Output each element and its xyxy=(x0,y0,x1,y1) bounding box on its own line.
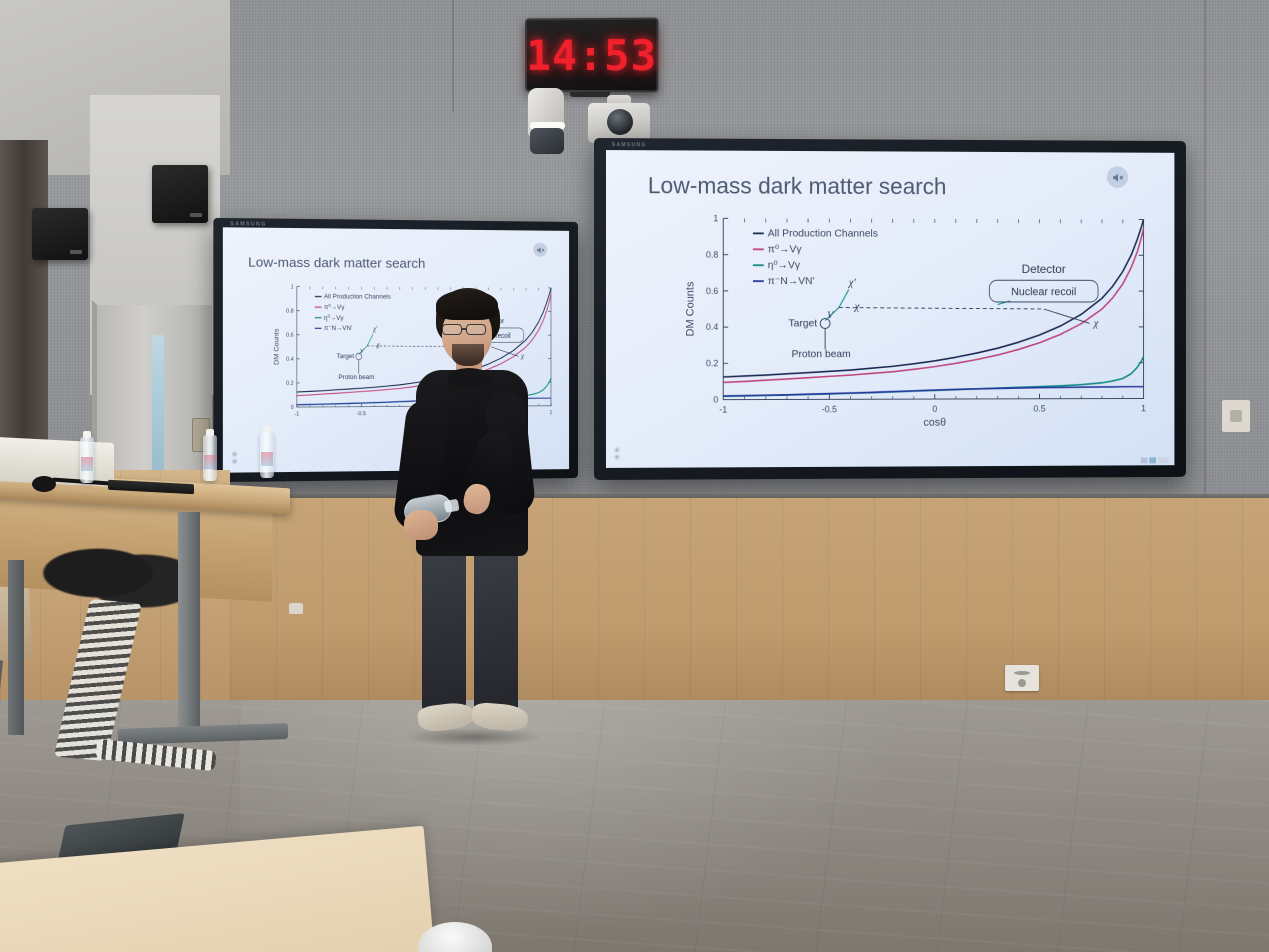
power-outlet[interactable] xyxy=(1005,665,1039,691)
display-right[interactable]: Low-mass dark matter search ◉◉ -1-0.500.… xyxy=(594,138,1186,480)
mute-icon[interactable] xyxy=(533,243,547,257)
svg-text:-0.5: -0.5 xyxy=(357,411,366,417)
door-glass-panel xyxy=(152,335,164,490)
svg-text:χ: χ xyxy=(1093,317,1100,329)
svg-text:0.2: 0.2 xyxy=(706,358,718,368)
svg-text:1: 1 xyxy=(1141,403,1146,413)
svg-text:DM Counts: DM Counts xyxy=(274,328,281,365)
chart-svg: -1-0.500.5100.20.40.60.81cosθDM CountsAl… xyxy=(668,204,1157,435)
display-right-screen[interactable]: Low-mass dark matter search ◉◉ -1-0.500.… xyxy=(606,150,1174,468)
slide-corner-marks: ◉◉ xyxy=(231,451,237,467)
svg-text:π⁻N→VN': π⁻N→VN' xyxy=(768,276,815,287)
svg-text:η⁰→Vγ: η⁰→Vγ xyxy=(768,260,801,271)
svg-text:Proton beam: Proton beam xyxy=(792,349,851,360)
svg-text:-1: -1 xyxy=(719,405,727,415)
presenter-beard xyxy=(452,344,484,366)
slide-title: Low-mass dark matter search xyxy=(248,254,425,271)
svg-text:π⁰→Vγ: π⁰→Vγ xyxy=(324,303,345,312)
display-brand-logo: SAMSUNG xyxy=(612,142,647,148)
presenter-legs xyxy=(422,544,520,712)
svg-text:cosθ: cosθ xyxy=(923,417,946,429)
svg-text:0.8: 0.8 xyxy=(286,308,294,314)
svg-text:η⁰→Vγ: η⁰→Vγ xyxy=(324,313,344,322)
presenter-shadow xyxy=(404,728,544,746)
svg-text:0.4: 0.4 xyxy=(286,357,294,363)
svg-text:0.5: 0.5 xyxy=(1033,404,1045,414)
lecture-room-photo: 14:53 Low-mass dark matter search ◉◉ -1-… xyxy=(0,0,1269,952)
wall-speaker-left xyxy=(32,208,88,260)
slide-corner-marks: ◉◉ xyxy=(614,447,620,462)
svg-text:Detector: Detector xyxy=(1022,262,1066,276)
taskbar[interactable] xyxy=(1141,457,1169,463)
svg-text:Proton beam: Proton beam xyxy=(338,373,374,381)
desk-leg xyxy=(178,512,200,730)
svg-text:1: 1 xyxy=(713,213,718,223)
svg-text:π⁰→Vγ: π⁰→Vγ xyxy=(768,244,802,255)
mute-icon[interactable] xyxy=(1107,166,1128,188)
presenter-collar xyxy=(448,368,490,388)
wall-seam xyxy=(1204,0,1206,500)
desk-leg xyxy=(8,560,24,735)
svg-text:χ: χ xyxy=(854,301,861,313)
svg-text:0.8: 0.8 xyxy=(706,250,718,260)
glasses-icon xyxy=(442,324,492,335)
chart-right: -1-0.500.5100.20.40.60.81cosθDM CountsAl… xyxy=(668,204,1157,435)
presenter-hair-front xyxy=(436,290,498,320)
water-bottle[interactable] xyxy=(260,432,274,478)
slide-right: Low-mass dark matter search ◉◉ -1-0.500.… xyxy=(606,150,1174,468)
svg-text:-1: -1 xyxy=(294,411,299,417)
water-bottle[interactable] xyxy=(80,437,94,483)
svg-text:DM Counts: DM Counts xyxy=(685,281,697,336)
svg-text:0: 0 xyxy=(291,405,294,411)
svg-text:Target: Target xyxy=(789,318,818,329)
wall-speaker-right xyxy=(152,165,208,223)
svg-text:0: 0 xyxy=(713,395,718,405)
presenter xyxy=(378,288,558,758)
svg-text:-0.5: -0.5 xyxy=(822,404,837,414)
display-brand-logo: SAMSUNG xyxy=(230,221,266,228)
svg-text:0: 0 xyxy=(932,404,937,414)
svg-text:Nuclear recoil: Nuclear recoil xyxy=(1011,286,1076,298)
svg-text:χ′: χ′ xyxy=(848,277,857,289)
slide-title: Low-mass dark matter search xyxy=(648,172,947,200)
wall-seam xyxy=(452,0,454,112)
clock-time-display: 14:53 xyxy=(526,30,657,80)
svg-text:Target: Target xyxy=(337,353,355,360)
water-bottle[interactable] xyxy=(203,435,217,481)
svg-text:0.6: 0.6 xyxy=(286,332,294,338)
wall-plate xyxy=(1222,400,1250,432)
presenter-hand-left xyxy=(404,510,438,540)
floor-outlet[interactable] xyxy=(289,603,303,614)
svg-text:All Production Channels: All Production Channels xyxy=(768,228,878,239)
svg-text:0.2: 0.2 xyxy=(286,381,294,387)
svg-text:0.6: 0.6 xyxy=(706,286,718,296)
svg-text:π⁻N→VN': π⁻N→VN' xyxy=(324,325,352,332)
ptz-camera-icon xyxy=(528,88,570,154)
svg-text:0.4: 0.4 xyxy=(706,322,718,332)
svg-text:1: 1 xyxy=(291,284,294,290)
digital-wall-clock: 14:53 xyxy=(525,18,659,93)
